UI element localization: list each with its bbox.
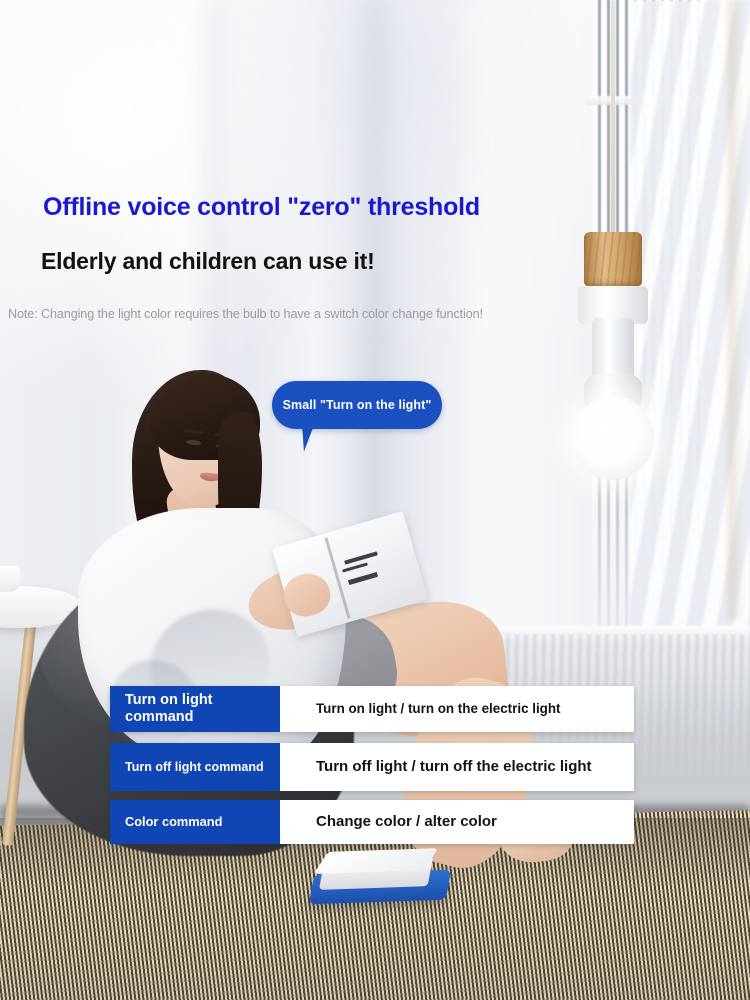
- glowing-light-bulb: [572, 396, 654, 480]
- product-banner: Offline voice control "zero" threshold E…: [0, 0, 750, 1000]
- table-row: Turn off light command Turn off light / …: [110, 743, 634, 791]
- command-value: Turn on light / turn on the electric lig…: [280, 686, 634, 732]
- voice-switch-top: [314, 848, 439, 874]
- lamp-wood-cap: [584, 232, 642, 286]
- command-label: Turn off light command: [110, 743, 280, 791]
- speech-bubble: Small "Turn on the light": [272, 381, 442, 429]
- command-value: Turn off light / turn off the electric l…: [280, 743, 634, 791]
- page-title: Offline voice control "zero" threshold: [43, 193, 480, 222]
- command-label: Color command: [110, 800, 280, 844]
- table-row: Color command Change color / alter color: [110, 800, 634, 844]
- command-label: Turn on light command: [110, 686, 280, 732]
- command-value: Change color / alter color: [280, 800, 634, 844]
- speech-bubble-text: Small "Turn on the light": [283, 398, 432, 412]
- disclaimer-note: Note: Changing the light color requires …: [8, 307, 483, 321]
- table-row: Turn on light command Turn on light / tu…: [110, 686, 634, 732]
- page-subtitle: Elderly and children can use it!: [41, 248, 375, 275]
- curtain-edge-glow: [728, 0, 744, 620]
- lamp-cord: [611, 0, 615, 238]
